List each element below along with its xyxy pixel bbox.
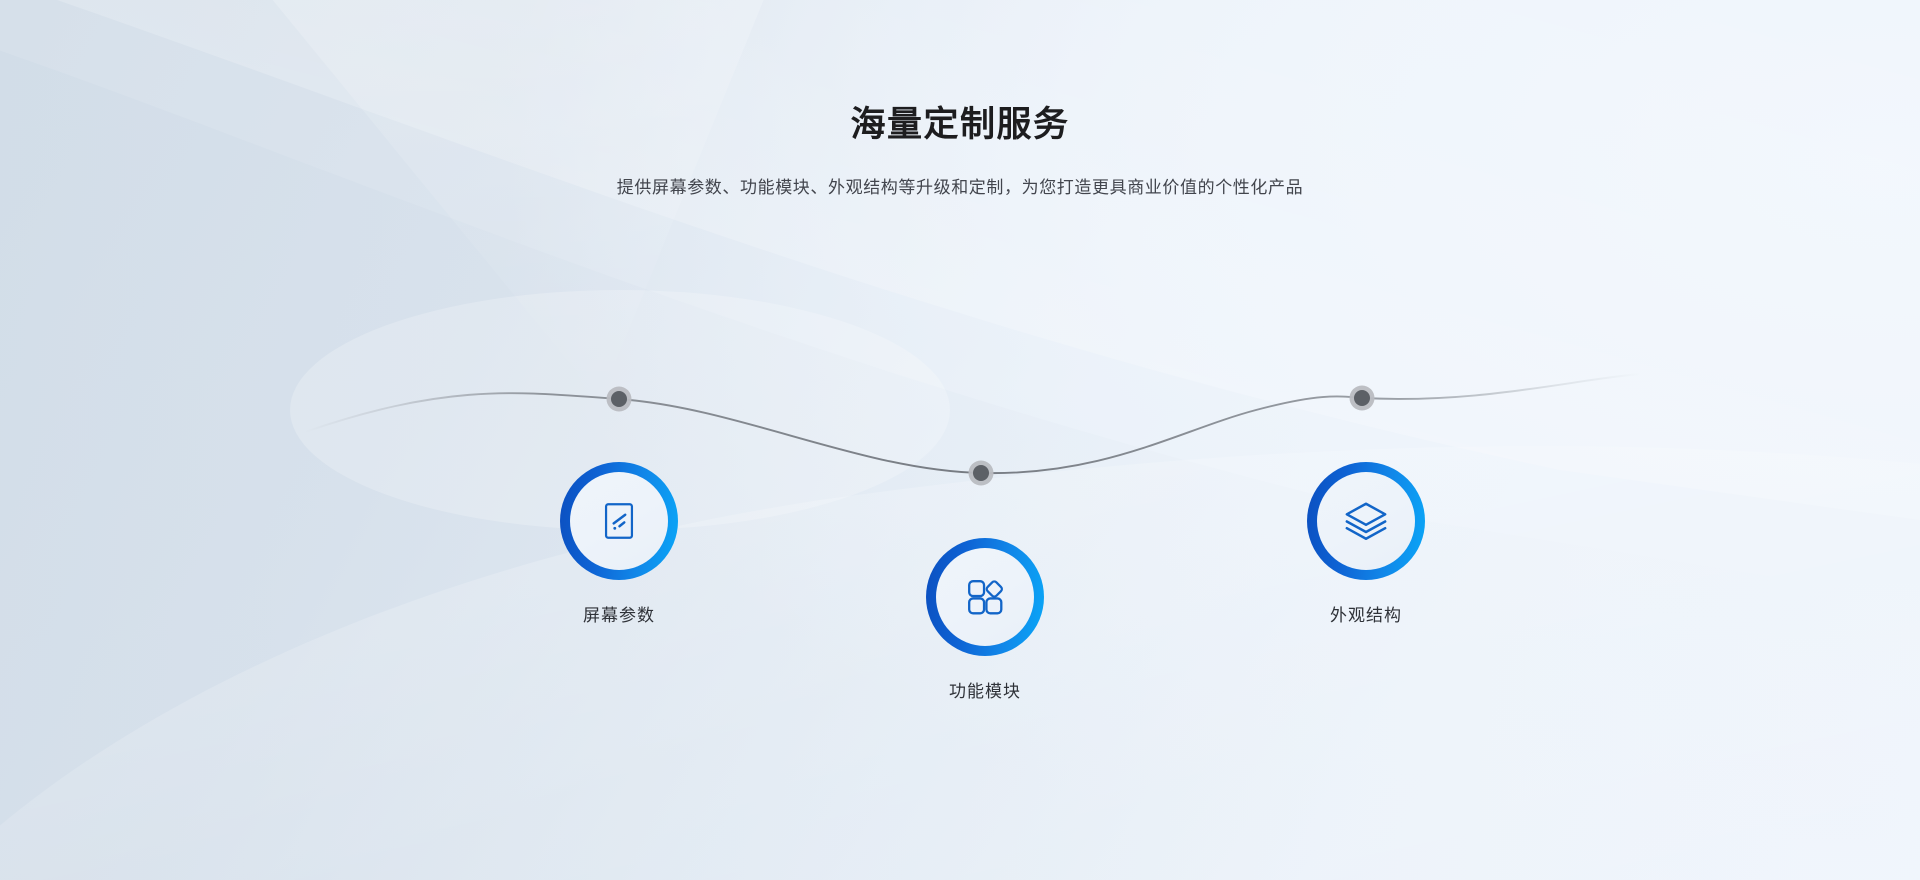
service-node-label: 外观结构 [1330, 607, 1402, 624]
screen-icon [596, 498, 642, 544]
service-node-screen-params[interactable]: 屏幕参数 [560, 462, 678, 624]
modules-icon [962, 574, 1008, 620]
service-node-label: 功能模块 [949, 683, 1021, 700]
layers-icon [1343, 498, 1389, 544]
service-node-function-module[interactable]: 功能模块 [926, 538, 1044, 700]
icon-ring-function-module[interactable] [926, 538, 1044, 656]
icon-ring-screen-params[interactable] [560, 462, 678, 580]
custom-service-section: 海量定制服务 提供屏幕参数、功能模块、外观结构等升级和定制，为您打造更具商业价值… [0, 0, 1920, 880]
node-dot-screen-params [607, 387, 632, 412]
node-dot-function-module [969, 461, 994, 486]
node-dot-appearance [1350, 386, 1375, 411]
connector-curve [305, 374, 1640, 473]
icon-ring-appearance[interactable] [1307, 462, 1425, 580]
connector-curve-layer [0, 0, 1920, 880]
service-node-label: 屏幕参数 [583, 607, 655, 624]
service-node-appearance[interactable]: 外观结构 [1307, 462, 1425, 624]
